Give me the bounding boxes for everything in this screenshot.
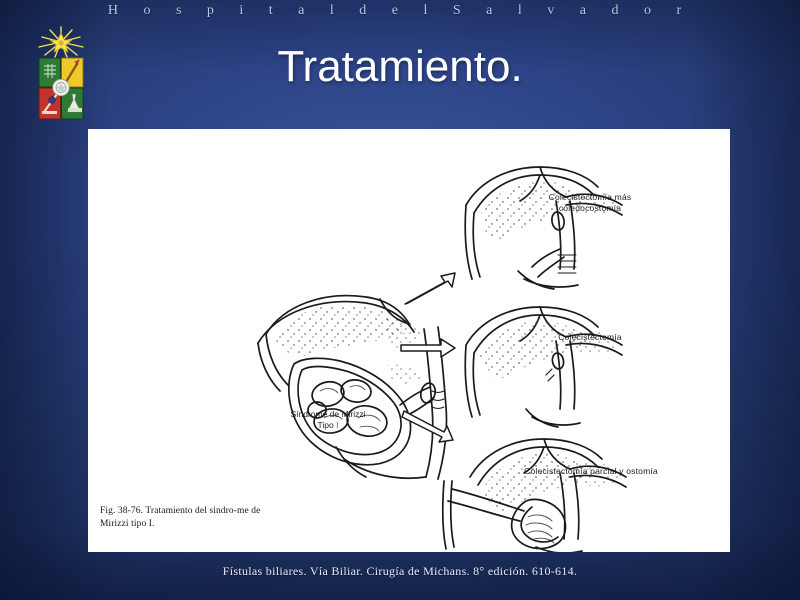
- header-band: H o s p i t a l d e l S a l v a d o r: [0, 0, 800, 24]
- label-colecistectomia-parcial-y-ostomia: Colecistectomía parcial y ostomía: [518, 466, 664, 477]
- figure-panel: Colecistectomía más coledocostomía Colec…: [88, 129, 730, 552]
- source-citation: Fístulas biliares. Vía Biliar. Cirugía d…: [0, 564, 800, 579]
- page-title: Tratamiento.: [0, 42, 800, 92]
- presentation-slide: H o s p i t a l d e l S a l v a d o r: [0, 0, 800, 600]
- hospital-name-text: H o s p i t a l d e l S a l v a d o r: [0, 3, 800, 19]
- sindrome-line-1: Síndrome de Mirizzi: [290, 409, 365, 419]
- label-sindrome-de-mirizzi: Síndrome de Mirizzi Tipo I: [258, 409, 398, 431]
- figure-caption: Fig. 38-76. Tratamiento del sindro-me de…: [100, 505, 280, 531]
- tipo-roman-numeral: I: [336, 420, 338, 430]
- label-colecistectomia: Colecistectomía: [520, 332, 660, 343]
- tipo-prefix: Tipo: [318, 420, 337, 430]
- label-colecistectomia-mas-coledocostomia: Colecistectomía más coledocostomía: [520, 192, 660, 213]
